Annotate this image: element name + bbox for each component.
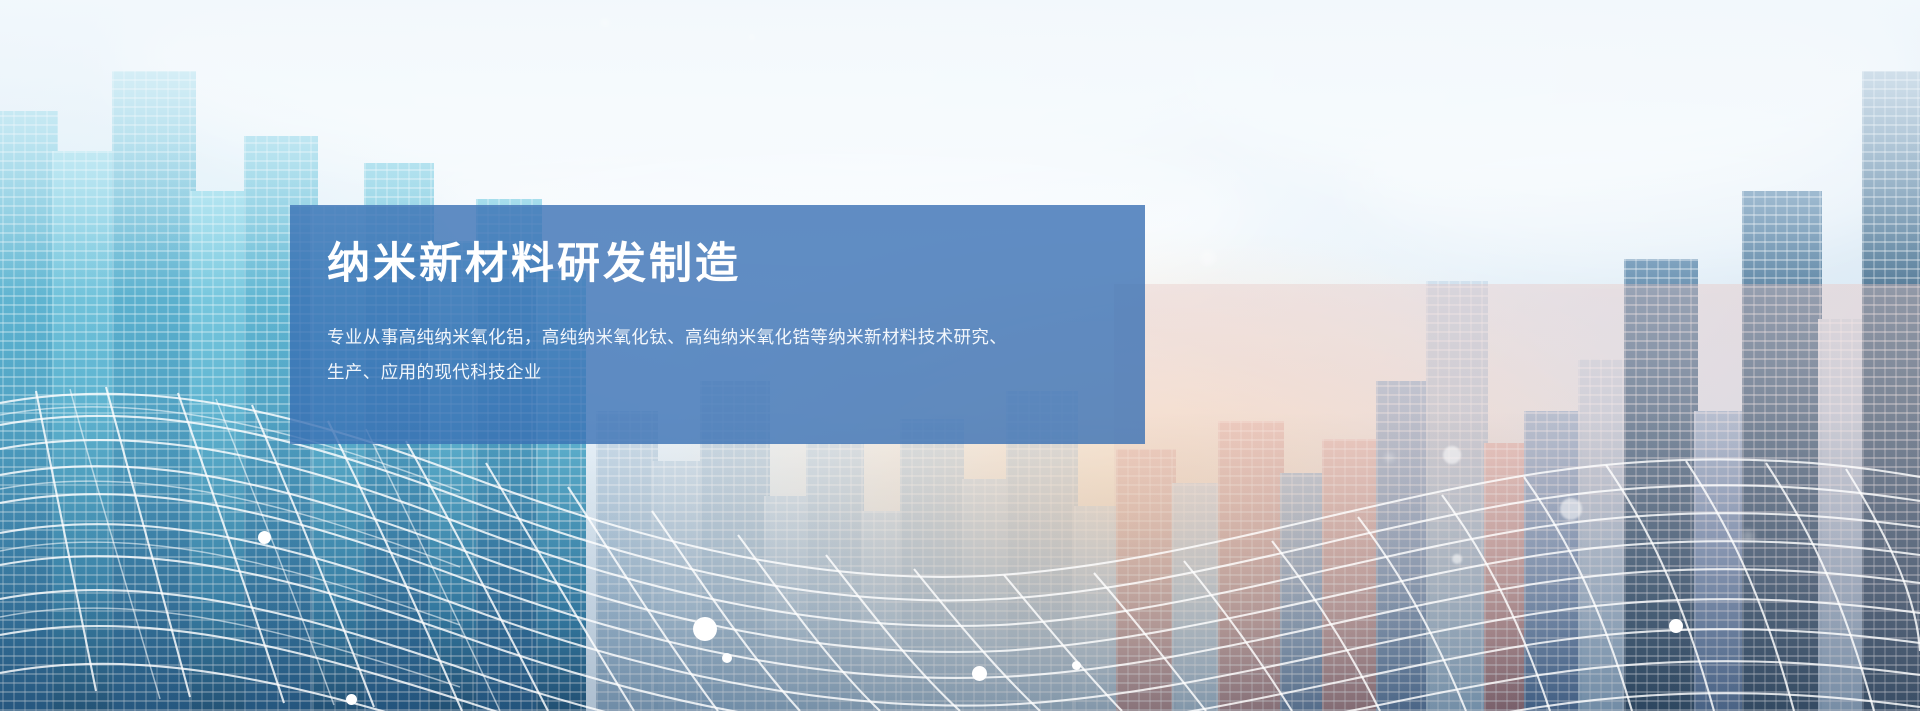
building — [652, 461, 700, 711]
building — [806, 443, 864, 711]
building — [862, 511, 902, 711]
building — [1376, 381, 1430, 711]
building — [0, 111, 58, 711]
building — [1484, 443, 1528, 711]
building — [190, 191, 250, 711]
building — [1172, 483, 1222, 711]
hero-description: 专业从事高纯纳米氧化铝，高纯纳米氧化钛、高纯纳米氧化锆等纳米新材料技术研究、 生… — [327, 320, 1157, 390]
building — [900, 419, 964, 711]
building — [1742, 191, 1822, 711]
building — [596, 411, 658, 711]
hero-description-line: 专业从事高纯纳米氧化铝，高纯纳米氧化钛、高纯纳米氧化锆等纳米新材料技术研究、 — [327, 320, 1157, 355]
hero-description-line: 生产、应用的现代科技企业 — [327, 355, 1157, 390]
building — [1426, 281, 1488, 711]
building — [1074, 506, 1118, 711]
building — [1280, 473, 1326, 711]
building — [52, 151, 118, 711]
building — [1624, 259, 1698, 711]
building — [1524, 411, 1582, 711]
building — [764, 496, 808, 711]
building — [1116, 449, 1176, 711]
building — [1578, 359, 1628, 711]
hero-banner: 纳米新材料研发制造 专业从事高纯纳米氧化铝，高纯纳米氧化钛、高纯纳米氧化锆等纳米… — [0, 0, 1920, 711]
building — [112, 71, 196, 711]
hero-text-panel: 纳米新材料研发制造 专业从事高纯纳米氧化铝，高纯纳米氧化钛、高纯纳米氧化锆等纳米… — [290, 205, 1145, 444]
building — [1818, 319, 1866, 711]
page-title: 纳米新材料研发制造 — [327, 239, 1125, 290]
building — [1694, 411, 1746, 711]
building — [1322, 439, 1380, 711]
hero-text-group: 纳米新材料研发制造 专业从事高纯纳米氧化铝，高纯纳米氧化钛、高纯纳米氧化锆等纳米… — [327, 239, 1125, 390]
building — [1862, 71, 1920, 711]
building — [1218, 421, 1284, 711]
building — [962, 479, 1008, 711]
